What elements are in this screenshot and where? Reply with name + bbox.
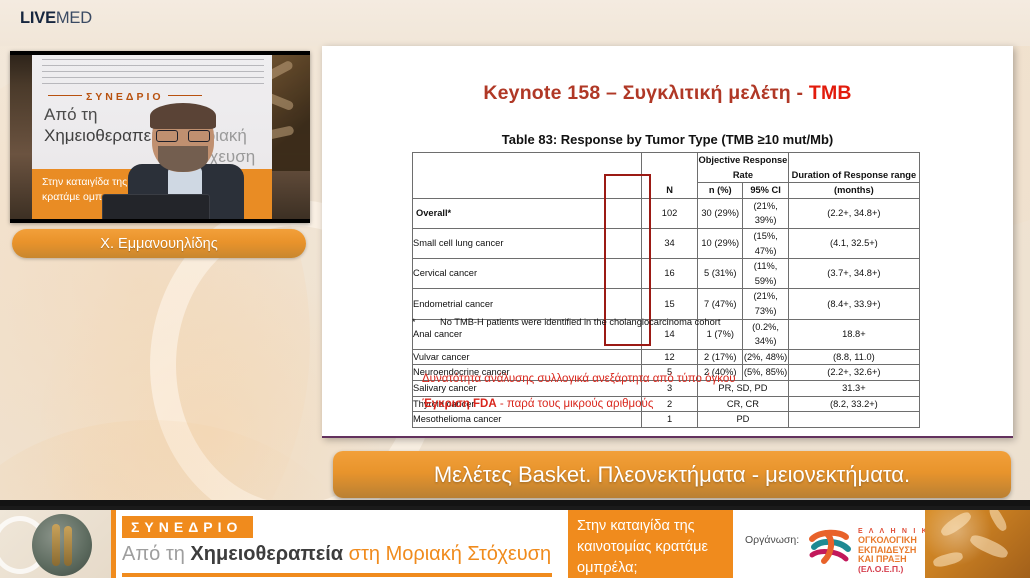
- topic-pill[interactable]: Μελέτες Basket. Πλεονεκτήματα - μειονεκτ…: [333, 451, 1011, 498]
- cell-orr-ci: (5%, 85%): [743, 365, 788, 381]
- table-body: Overall*10230 (29%)(21%, 39%)(2.2+, 34.8…: [413, 198, 920, 427]
- cell-n: 15: [642, 289, 698, 319]
- cell-duration: (2.2+, 32.6+): [788, 365, 919, 381]
- conference-banner: ΣΥΝΕΔΡΙΟ Από τη Χημειοθεραπεία στη Μορια…: [0, 505, 1030, 578]
- table-row: Cervical cancer165 (31%)(11%, 59%)(3.7+,…: [413, 259, 920, 289]
- slide-note-2-bold: Έγκριση FDA: [422, 398, 497, 410]
- table-row: Vulvar cancer122 (17%)(2%, 48%)(8.8, 11.…: [413, 349, 920, 365]
- banner-subtitle-1: Από τη: [122, 543, 190, 565]
- video-inner: ΣΥΝΕΔΡΙΟ Από τη Χημειοθεραπεία Μοριακή Σ…: [10, 51, 310, 223]
- banner-orange-bar: [111, 510, 116, 578]
- cell-orr-n: 5 (31%): [698, 259, 743, 289]
- speaker-name: Χ. Εμμανουηλίδης: [100, 236, 217, 252]
- banner-figure-1: [52, 524, 60, 566]
- cell-duration: (3.7+, 34.8+): [788, 259, 919, 289]
- cell-n: 12: [642, 349, 698, 365]
- cell-n: 16: [642, 259, 698, 289]
- banner-subtitle-4: Μοριακή Στόχευση: [386, 543, 552, 565]
- banner-synedrio-badge: ΣΥΝΕΔΡΙΟ: [122, 516, 253, 538]
- response-table: Objective Response Rate Duration of Resp…: [412, 152, 920, 428]
- speaker-beard: [158, 146, 208, 172]
- cell-orr-span: PD: [698, 412, 789, 428]
- table-row: Overall*10230 (29%)(21%, 39%)(2.2+, 34.8…: [413, 198, 920, 228]
- banner-subtitle-2: Χημειοθεραπεία: [190, 543, 343, 565]
- speaker-hair: [150, 103, 216, 129]
- slide-viewer: LIVEMED ΣΥΝΕΔΡΙΟ Από τη Χημειοθεραπεία Μ…: [0, 0, 1030, 578]
- banner-artwork: [0, 510, 116, 578]
- cell-orr-n: 7 (47%): [698, 289, 743, 319]
- cell-orr-ci: (11%, 59%): [743, 259, 788, 289]
- cell-orr-n: 10 (29%): [698, 228, 743, 258]
- th-duration-units: (months): [788, 183, 919, 199]
- table-row: Mesothelioma cancer1PD: [413, 412, 920, 428]
- th-n-blank: [642, 153, 698, 183]
- logo-bold-text: LIVE: [20, 9, 56, 27]
- cell-orr-n: 30 (29%): [698, 198, 743, 228]
- table-row: Endometrial cancer157 (47%)(21%, 73%)(8.…: [413, 289, 920, 319]
- cell-orr-ci: (2%, 48%): [743, 349, 788, 365]
- cell-tumor-type: Mesothelioma cancer: [413, 412, 642, 428]
- banner-microscopy-image: [925, 510, 1030, 578]
- th-orr-group: Objective Response Rate: [698, 153, 789, 183]
- poster-fineprint: [42, 59, 264, 85]
- slide-note-1: Δυνατότητα ανάλυσης συλλογικά ανεξάρτητα…: [422, 373, 736, 385]
- slide-note-2: Έγκριση FDA - παρά τους μικρούς αριθμούς: [422, 398, 653, 410]
- cell-orr-ci: (15%, 47%): [743, 228, 788, 258]
- footnote-marker: *: [412, 317, 440, 327]
- speaker-glasses: [156, 130, 210, 142]
- cell-duration: (8.2, 33.2+): [788, 396, 919, 412]
- slide-title-main: Keynote 158 – Συγκλιτική μελέτη -: [483, 82, 809, 104]
- cell-duration: (2.2+, 34.8+): [788, 198, 919, 228]
- banner-underline: [122, 573, 552, 577]
- cell-orr-span: CR, CR: [698, 396, 789, 412]
- banner-subtitle-3: στη: [343, 543, 385, 565]
- cell-orr-n: 2 (17%): [698, 349, 743, 365]
- th-tumor-type: [413, 153, 642, 199]
- cell-n: 102: [642, 198, 698, 228]
- speaker-video[interactable]: ΣΥΝΕΔΡΙΟ Από τη Χημειοθεραπεία Μοριακή Σ…: [10, 51, 310, 223]
- cell-duration: (4.1, 32.5+): [788, 228, 919, 258]
- banner-stone: [32, 514, 92, 576]
- logo-light-text: MED: [56, 9, 92, 27]
- cell-tumor-type: Cervical cancer: [413, 259, 642, 289]
- cell-orr-ci: (21%, 39%): [743, 198, 788, 228]
- speaker-name-pill[interactable]: Χ. Εμμανουηλίδης: [12, 229, 306, 258]
- cell-tumor-type: Overall*: [413, 198, 642, 228]
- eloep-swirl-icon: [806, 529, 854, 565]
- table-caption: Table 83: Response by Tumor Type (TMB ≥1…: [322, 132, 1013, 147]
- slide-note-2-rest: - παρά τους μικρούς αριθμούς: [497, 398, 654, 410]
- cell-n: 34: [642, 228, 698, 258]
- table-header-row-1: Objective Response Rate Duration of Resp…: [413, 153, 920, 183]
- banner-organizer-label: Οργάνωση:: [745, 534, 799, 546]
- poster-synedrio: ΣΥΝΕΔΡΙΟ: [44, 91, 206, 103]
- cell-n: 1: [642, 412, 698, 428]
- banner-figure-2: [64, 526, 72, 566]
- top-bar: LIVEMED: [0, 0, 1030, 46]
- table-row: Small cell lung cancer3410 (29%)(15%, 47…: [413, 228, 920, 258]
- topic-label: Μελέτες Basket. Πλεονεκτήματα - μειονεκτ…: [434, 462, 910, 488]
- banner-conference-title: ΣΥΝΕΔΡΙΟ Από τη Χημειοθεραπεία στη Μορια…: [122, 516, 552, 566]
- cell-duration: 31.3+: [788, 380, 919, 396]
- table-head: Objective Response Rate Duration of Resp…: [413, 153, 920, 199]
- cell-duration: [788, 412, 919, 428]
- video-letterbox-bottom: [10, 219, 310, 223]
- presentation-slide[interactable]: Keynote 158 – Συγκλιτική μελέτη - TMB Ta…: [322, 46, 1013, 438]
- cell-tumor-type: Small cell lung cancer: [413, 228, 642, 258]
- cell-duration: (8.4+, 33.9+): [788, 289, 919, 319]
- video-letterbox-top: [10, 51, 310, 55]
- th-n: N: [642, 183, 698, 199]
- th-orr-ci: 95% CI: [743, 183, 788, 199]
- cell-tumor-type: Vulvar cancer: [413, 349, 642, 365]
- cell-tumor-type: Endometrial cancer: [413, 289, 642, 319]
- cell-orr-ci: (21%, 73%): [743, 289, 788, 319]
- slide-title-accent: TMB: [809, 82, 852, 104]
- banner-subtitle: Από τη Χημειοθεραπεία στη Μοριακή Στόχευ…: [122, 543, 552, 566]
- cell-duration: (8.8, 11.0): [788, 349, 919, 365]
- banner-top-divider: [0, 500, 1030, 506]
- th-orr-n: n (%): [698, 183, 743, 199]
- livemed-logo[interactable]: LIVEMED: [20, 9, 92, 28]
- poster-line-1: Από τη: [44, 105, 97, 125]
- footnote-text: No TMB-H patients were identified in the…: [440, 317, 720, 327]
- slide-title: Keynote 158 – Συγκλιτική μελέτη - TMB: [322, 82, 1013, 105]
- banner-slogan: Στην καταιγίδα της καινοτομίας κρατάμε ο…: [568, 510, 733, 578]
- th-duration-group: Duration of Response range: [788, 153, 919, 183]
- table-footnote: *No TMB-H patients were identified in th…: [412, 317, 932, 327]
